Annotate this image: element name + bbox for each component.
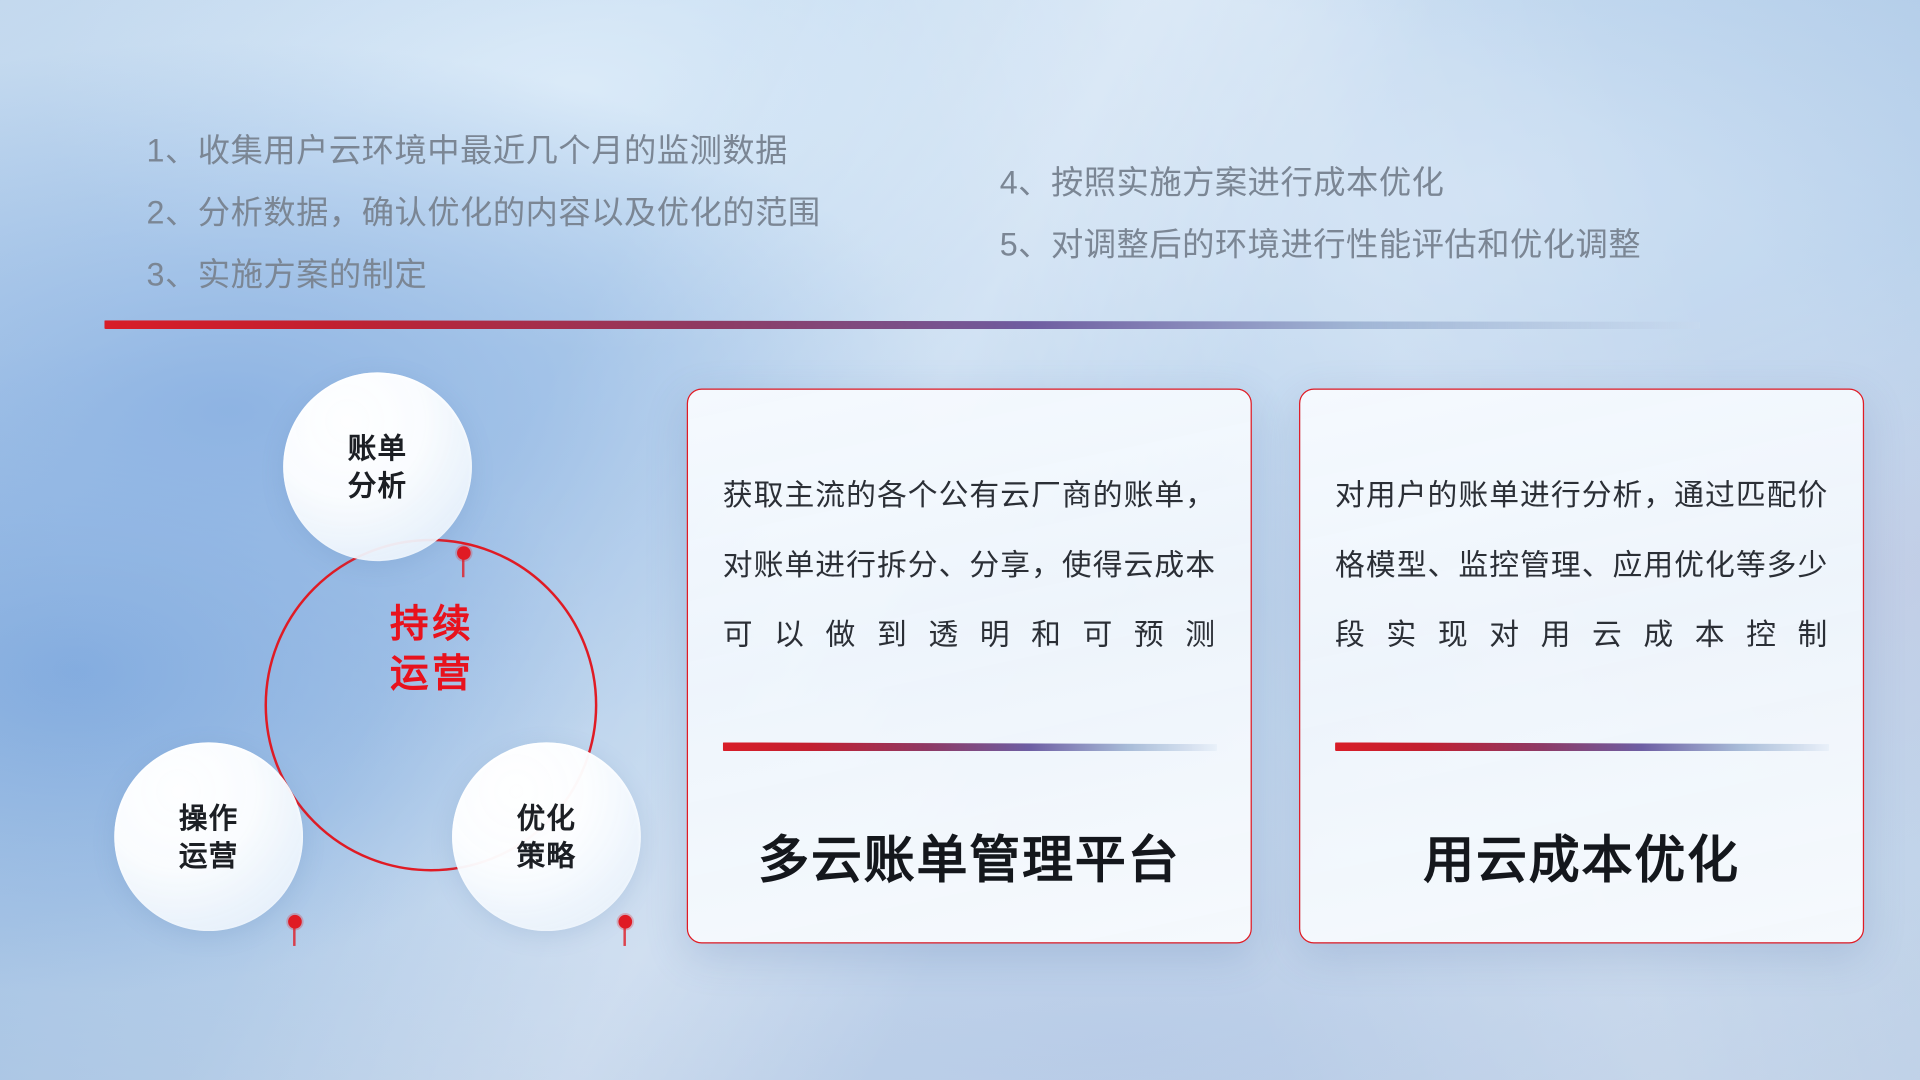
venn-bubble-operations[interactable]: 操作 运营: [114, 742, 303, 931]
step-item-5: 5、对调整后的环境进行性能评估和优化调整: [1000, 214, 1641, 276]
venn-node-stem-top: [462, 557, 464, 577]
venn-node-stem-right: [623, 926, 625, 946]
card-cloud-cost-optimization[interactable]: 对用户的账单进行分析，通过匹配价格模型、监控管理、应用优化等多少段实现对用云成本…: [1299, 389, 1864, 944]
venn-bubble-optimization-strategy[interactable]: 优化 策略: [452, 742, 641, 931]
venn-bubble-top-line1: 账单: [348, 430, 408, 467]
card-1-body: 获取主流的各个公有云厂商的账单，对账单进行拆分、分享，使得云成本可以做到透明和可…: [723, 462, 1216, 671]
step-item-2: 2、分析数据，确认优化的内容以及优化的范围: [147, 181, 821, 243]
card-1-divider: [723, 742, 1217, 751]
venn-bubble-top-line2: 分析: [348, 467, 408, 504]
card-2-body: 对用户的账单进行分析，通过匹配价格模型、监控管理、应用优化等多少段实现对用云成本…: [1335, 462, 1828, 671]
venn-bubble-right-line1: 优化: [517, 799, 577, 836]
venn-diagram: 持续 运营 账单 分析 操作 运营 优化 策略: [99, 358, 683, 954]
venn-node-dot-left: [288, 915, 302, 929]
step-item-4: 4、按照实施方案进行成本优化: [1000, 151, 1641, 213]
card-2-divider: [1335, 742, 1829, 751]
card-multicloud-billing[interactable]: 获取主流的各个公有云厂商的账单，对账单进行拆分、分享，使得云成本可以做到透明和可…: [687, 389, 1252, 944]
venn-center-label-line1: 持续: [351, 600, 512, 650]
venn-node-stem-left: [293, 926, 295, 946]
venn-center-label: 持续 运营: [351, 600, 512, 699]
venn-bubble-right-line2: 策略: [517, 837, 577, 874]
slide-stage: 1、收集用户云环境中最近几个月的监测数据 2、分析数据，确认优化的内容以及优化的…: [0, 0, 1920, 1080]
venn-node-dot-top: [457, 546, 471, 560]
header-gradient-divider: [104, 320, 1700, 329]
venn-bubble-left-line1: 操作: [179, 799, 239, 836]
venn-bubble-left-line2: 运营: [179, 837, 239, 874]
step-item-1: 1、收集用户云环境中最近几个月的监测数据: [147, 119, 821, 181]
steps-left-column: 1、收集用户云环境中最近几个月的监测数据 2、分析数据，确认优化的内容以及优化的…: [147, 119, 821, 305]
venn-node-dot-right: [618, 915, 632, 929]
steps-right-column: 4、按照实施方案进行成本优化 5、对调整后的环境进行性能评估和优化调整: [1000, 151, 1641, 275]
venn-center-label-line2: 运营: [351, 649, 512, 699]
card-1-title: 多云账单管理平台: [723, 818, 1216, 892]
step-item-3: 3、实施方案的制定: [147, 243, 821, 305]
card-2-title: 用云成本优化: [1335, 818, 1828, 892]
venn-bubble-billing-analysis[interactable]: 账单 分析: [283, 372, 472, 561]
